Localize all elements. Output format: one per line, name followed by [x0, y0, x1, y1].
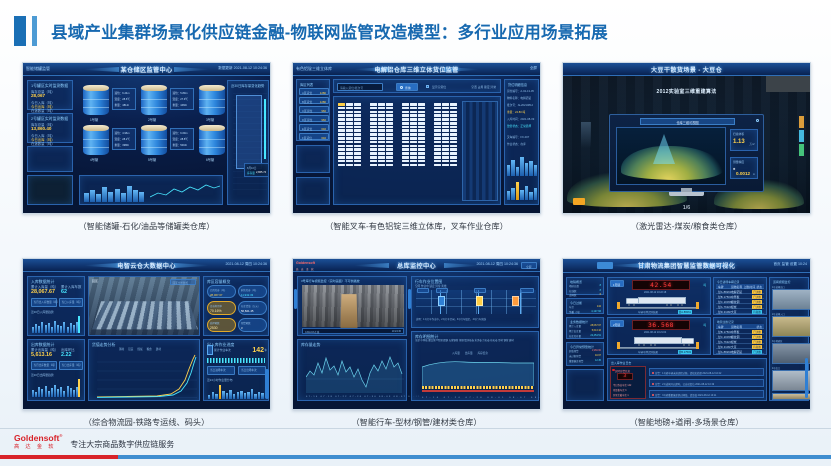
progress-sub1[interactable]: 当日出场车次: [238, 366, 266, 375]
tank-unit-1[interactable]: [83, 85, 109, 115]
tank-card-zone1[interactable]: 1号罐区实时监测数据 库存总量（吨） 28,067 今日入库（吨） 今日出库（吨…: [27, 80, 73, 110]
wb-table-2[interactable]: 车牌 货物名称 状态 甘B·17503 中厚板 已过衡 甘C·20458: [716, 324, 764, 354]
progress-sub0[interactable]: 当日进场车次: [207, 366, 235, 375]
tank-band: [199, 147, 225, 148]
inbound-kpi0-value: 28,067.67: [31, 289, 55, 295]
tank-unit-6-label: 6号罐: [206, 157, 214, 162]
capacity-block-5[interactable]: 预警笔数 3: [238, 318, 267, 332]
detail-row-7: 作业状态：在库: [507, 142, 526, 146]
tank-band: [141, 147, 167, 148]
wb-st-2-label: 在库库存量: [569, 334, 581, 338]
camera-controls[interactable]: CAM-03 在线 10:24:36: [302, 328, 404, 334]
bigdata-card-capacity[interactable]: 库区容量概览 已用库容（吨） 28,067.67 剩余库容（吨） 11,932.…: [203, 276, 269, 336]
inbound-highlight-bar: [78, 316, 80, 333]
wb-stats-title: 业务数据统计: [570, 320, 588, 324]
zone-item-4[interactable]: E区货位 640: [299, 124, 329, 131]
tank-lid: [199, 85, 225, 91]
screenshot-grid: 智能储罐监管 某仓储区监管中心 数据更新 2021-08-12 10:24:36…: [22, 62, 812, 417]
lidar-monitor[interactable]: 仓库三维可视图 扫描体积 1.13 万m³: [609, 114, 764, 192]
table-row[interactable]: 甘A·88261 电解铝锭 已过衡: [716, 349, 764, 354]
wb-st-0-value: 28,067.67: [590, 324, 601, 327]
tank-header: 智能储罐监管 某仓储区监管中心 数据更新 2021-08-12 10:24:36: [23, 63, 270, 76]
slide-title-row: 县域产业集群场景化供应链金融-物联网监管改造模型：多行业应用场景拓展: [14, 16, 608, 46]
tank-unit-2[interactable]: [141, 85, 167, 115]
crane-header: Goldensoft 高 达 金 软 总库监控中心 2021-08-12 周四 …: [293, 259, 540, 272]
status-strip-green: [799, 144, 804, 156]
wb-log-row-0[interactable]: 告警：1号磅车辆未按流程过衡，请核实处理 2021-08-12 10:22: [649, 368, 764, 376]
wb-ov-2-label: 道闸数: [569, 293, 577, 297]
lidar-window-titlebar: 仓库三维可视图: [640, 118, 735, 125]
zone-item-5[interactable]: F区货位 640: [299, 133, 329, 140]
screen-corner-artifact: [766, 76, 810, 92]
wb-card-stats[interactable]: 业务数据统计 累计入库量 28,067.67 累计出库量 5,613.16 在库…: [566, 317, 604, 339]
scale-2-footer: 车辆号牌识别结果: [638, 350, 658, 354]
zone-item-3[interactable]: D区货位 960: [299, 115, 329, 122]
lane-tag-2: [436, 288, 448, 293]
footer-brand-en: Goldensoft®: [14, 434, 62, 443]
tank-body: [141, 89, 167, 115]
camera-feed[interactable]: [302, 285, 404, 327]
tank-band: [83, 107, 109, 108]
wb-al-2-value: 12.45: [595, 359, 601, 362]
scale-1-unit: 吨: [703, 283, 706, 287]
td-goods: 大豆: [731, 310, 737, 314]
zone-item-5-name: F区货位: [302, 136, 312, 140]
search-button-label: 查询: [405, 86, 411, 90]
forklift-rack-canvas[interactable]: [333, 96, 501, 205]
panel-cell-lidar: 大豆干散货场景 - 大豆仓 2012实验室三维重建算法: [562, 62, 811, 214]
footer-brand-block: Goldensoft® 高 达 金 软: [14, 434, 62, 451]
wb-table-1[interactable]: 车牌 货物名称 过衡时间 状态 甘A·88261 电解铝锭 已过衡: [716, 284, 764, 314]
tank-unit-4-label: 4号罐: [90, 157, 98, 162]
inbound-sub1[interactable]: 当日入库量（吨）: [59, 298, 83, 307]
search-input[interactable]: 请输入货位/批次号: [337, 83, 383, 91]
wb-scale-card-2[interactable]: 2号磅 36.568 吨 2021-08-12 10:21:04: [607, 317, 711, 355]
area-legend: 入库量 出库量 库存结余: [452, 351, 488, 355]
side-tab-handle[interactable]: [265, 369, 269, 399]
page-title: 县域产业集群场景化供应链金融-物联网监管改造模型：多行业应用场景拓展: [51, 19, 608, 43]
progress-segments: [207, 358, 265, 363]
map-tag[interactable]: 园区全景监控: [170, 279, 196, 285]
wb-log-count-led: 3: [617, 373, 633, 380]
lane-tag-4: [520, 288, 534, 293]
footer-accent-red: [0, 455, 118, 459]
caption-crane: （智能行车-型材/钢管/建材类仓库）: [292, 416, 541, 428]
tank-card-trend[interactable]: 近30日库存量变化趋势 8月10日 库存量 2,865.74: [227, 80, 269, 205]
detail-row-6: 叉车编号：FK-007: [507, 135, 529, 139]
tank-card-zone2-title: 2号罐区实时监测数据: [31, 116, 68, 122]
lidar-scan-beam: [653, 134, 675, 164]
lidar-3d-view[interactable]: [616, 127, 726, 185]
map-tag-label: 园区全景监控: [173, 281, 189, 285]
fullscreen-button-label: 全屏: [526, 265, 532, 269]
caption-lidar: （激光雷达-煤炭/粮食类仓库）: [562, 220, 811, 232]
wb-today-title: 今日过衡: [570, 301, 582, 305]
scale-1-post-right: [696, 302, 699, 309]
zone-item-4-count: 640: [321, 127, 326, 131]
wb-log-row-0-text: 告警：1号磅车辆未按流程过衡，请核实处理 2021-08-12 10:22: [655, 371, 721, 375]
tank-unit-3-label: 3号罐: [206, 117, 214, 122]
forklift-legend: 空置 占用 锁定 异常: [471, 85, 496, 89]
inbound-bars: [32, 316, 78, 333]
wall-light-left: [581, 122, 591, 148]
footer-brand-mark: ®: [59, 433, 62, 438]
scale-2-reading: 36.568: [648, 322, 674, 329]
inbound-sub0[interactable]: 当月出入库数量（吨）: [31, 298, 57, 307]
outbound-chart-title: 近30日出库量趋势: [31, 373, 54, 377]
crane-unit-1[interactable]: [438, 296, 445, 306]
camera-aisle: [340, 294, 357, 328]
forklift-dashboard: 有色铝锭三维立体库 电解铝仓库三维立体货位监管 全屏 库区列表 A区货位 128…: [293, 63, 540, 213]
tank-unit-5-label: 5号罐: [148, 157, 156, 162]
wb-al-1-value: 40.67: [595, 354, 601, 357]
wb-log-item-0: 今日作业车次 142: [613, 383, 631, 387]
rack-block-empty[interactable]: [462, 101, 498, 201]
lidar-metric-1-label: 测量精度: [733, 160, 744, 164]
capacity-block-4[interactable]: 质押笔数 2530: [207, 318, 236, 332]
alert-dot-icon: [652, 394, 654, 396]
lidar-header: 大豆干散货场景 - 大豆仓: [563, 63, 810, 76]
zone-item-5-count: 640: [321, 136, 326, 140]
tank-info-2: 液位：5.80m 温度：27.9℃ 重量：4460t: [170, 88, 194, 110]
screenshot-bigdata-dashboard[interactable]: 电智云仓大数据中心 2021-08-12 周四 10:24:36 入库数据统计 …: [22, 258, 271, 410]
tank-info-1: 液位：6.24m 温度：28.6℃ 重量：4812t: [112, 88, 136, 110]
screenshot-lidar-dashboard[interactable]: 大豆干散货场景 - 大豆仓 2012实验室三维重建算法: [562, 62, 811, 214]
tank-info-4-line2: 重量：3980t: [115, 143, 129, 147]
forklift-toolbar: 请输入货位/批次号 查询 显示空货位 空置 占用 锁定 异常: [333, 79, 501, 93]
tank-z1-r3-label: 在途数量（吨）: [31, 108, 55, 113]
title-accent-bar-secondary: [32, 16, 37, 46]
tank-bottom-bars: [84, 182, 144, 202]
tank-info-1-line1: 温度：28.6℃: [115, 97, 130, 101]
trend-title: 货值走势分析: [92, 342, 115, 348]
caption-bigdata: （综合物流园-铁路专运线、码头）: [22, 416, 271, 428]
scale-2-led: 36.568: [632, 320, 690, 330]
tank-card-zone3[interactable]: [27, 146, 73, 172]
tank-unit-3[interactable]: [199, 85, 225, 115]
crane-header-right: 2021-08-12 周四 10:24:36: [476, 262, 518, 267]
screenshot-tank-dashboard[interactable]: 智能储罐监管 某仓储区监管中心 数据更新 2021-08-12 10:24:36…: [22, 62, 271, 214]
panel-cell-crane: Goldensoft 高 达 金 软 总库监控中心 2021-08-12 周四 …: [292, 258, 541, 410]
wb-td-0-label: 车次: [569, 305, 574, 309]
table-row[interactable]: 甘D·31097 大豆 待复衡: [716, 309, 764, 314]
wb-scale-card-1[interactable]: 1号磅 42.54 吨 2021-08-12 10:22:18: [607, 277, 711, 315]
trend-line-chart: [97, 353, 197, 398]
camera-time: 10:24:36: [392, 330, 401, 333]
wb-al-1-label: 未过衡预警: [569, 354, 581, 358]
lidar-metric-1: 测量精度 ± 0.0012 m: [730, 157, 758, 179]
wb-ov-0-label: 地磅总数: [569, 284, 579, 288]
side-tab-handle-left[interactable]: [294, 289, 297, 309]
screenshot-crane-dashboard[interactable]: Goldensoft 高 达 金 软 总库监控中心 2021-08-12 周四 …: [292, 258, 541, 410]
tank-info-2-line1: 温度：27.9℃: [173, 97, 188, 101]
forklift-card-zones-extra[interactable]: [296, 145, 330, 173]
forklift-card-detail[interactable]: 货位明细信息 货位编号：A-02-13-05 物料名称：电解铝锭 批次号：AL2…: [504, 79, 539, 205]
forklift-detail-bars: [507, 154, 537, 176]
title-accent-bar-primary: [14, 16, 26, 46]
lidar-scene: 2012实验室三维重建算法 仓库三维可视图 扫描体积: [563, 76, 810, 213]
tank-band: [199, 107, 225, 108]
tank-z2-r0-value: 13,860.40: [31, 126, 51, 131]
tank-body: [83, 129, 109, 155]
scale-2-post-right: [696, 342, 699, 349]
crane-card-camera[interactable]: 3号库行车视频监控（实时画面）不可倒播放 CAM-03 在线 10:24:36: [297, 276, 407, 336]
outbound-sub1[interactable]: 当日出库量（吨）: [59, 361, 83, 370]
panel-cell-forklift: 有色铝锭三维立体库 电解铝仓库三维立体货位监管 全屏 库区列表 A区货位 128…: [292, 62, 541, 214]
forklift-card-zones-extra2[interactable]: [296, 177, 330, 205]
tank-z2-r3-label: 在途数量（吨）: [31, 141, 55, 146]
detail-row-2: 批次号：AL20210812: [507, 103, 533, 107]
wb-table1-title: 今日进场车辆记录: [717, 280, 739, 284]
warehouse-roofs: [92, 301, 198, 329]
zone-item-3-name: D区货位: [302, 118, 312, 122]
wb-card-overview[interactable]: 地磅概览 地磅总数 8 在线数 8 道闸数 6: [566, 277, 604, 295]
wb-camera-card[interactable]: 道闸视频监控 1号道闸出口 2号道闸入口 3号地磅区 4号出口: [769, 277, 809, 401]
zone-item-2-count: 960: [321, 109, 326, 113]
crane-line-title: 库存量走势: [301, 342, 320, 348]
outbound-kpi0-value: 5,613.16: [31, 352, 52, 358]
tank-bottom-line: [150, 181, 220, 203]
truck-icon: [207, 345, 213, 355]
bigdata-header: 电智云仓大数据中心 2021-08-12 周四 10:24:36: [23, 259, 270, 272]
detail-row-4: 入库时间：2021-08-09: [507, 117, 534, 121]
bigdata-card-outbound[interactable]: 出库数据统计 累计出库量（吨） 5,613.16 出库环比 2.22 当月出库数…: [27, 339, 85, 401]
outbound-bars: [32, 379, 78, 397]
rack-block-a[interactable]: [338, 103, 361, 166]
weighbridge-dashboard: 甘肃物流集团智慧监管数据可视化 首页 监管 设置 10:24 地磅概览 地磅总数…: [563, 259, 810, 409]
lidar-window-title: 仓库三维可视图: [641, 120, 734, 125]
wb-card-today[interactable]: 今日过衡 车次 142 净重（吨） 4,127.66: [566, 298, 604, 314]
screenshot-weighbridge-dashboard[interactable]: 甘肃物流集团智慧监管数据可视化 首页 监管 设置 10:24 地磅概览 地磅总数…: [562, 258, 811, 410]
wb-table-card-1[interactable]: 今日进场车辆记录 车牌 货物名称 过衡时间 状态 甘A·88261 电解铝锭: [713, 277, 767, 315]
caption-forklift: （智能叉车-有色铝锭三维立体库，叉车作业仓库）: [292, 220, 541, 232]
wb-log-row-1[interactable]: 告警：2号道闸开启超时，已自动复位 2021-08-12 10:19: [649, 379, 764, 387]
lidar-pager[interactable]: 1/6: [563, 205, 810, 211]
wb-log-title: 出入库作业日志: [611, 361, 631, 365]
trend-legend: 钢材 铝锭 煤炭 粮食 建材: [119, 347, 161, 351]
progress-bars: [208, 384, 264, 399]
wb-log-row-2-text: 告警：3号磅重量偏差超过阈值，请复核 2021-08-12 10:11: [655, 393, 716, 397]
td-status: 已过衡: [752, 350, 762, 354]
lidar-metric-1-prefix: ±: [733, 166, 735, 171]
tooltip-label: 8月10日: [247, 166, 257, 170]
tank-info-4: 液位：4.96m 温度：28.2℃ 重量：3980t: [112, 128, 136, 150]
wb-scrollbar[interactable]: [805, 358, 808, 398]
area-legend-0: 入库量: [452, 351, 460, 355]
area-legend-1: 出库量: [465, 351, 473, 355]
area-filters[interactable]: 全部 中厚板 螺纹钢 H型钢 圆钢 无缝钢管 角钢 镀锌板卷 彩涂卷 冷轧卷 热…: [415, 339, 537, 342]
outbound-sub0[interactable]: 当月出库数量（吨）: [31, 361, 57, 370]
crane-unit-2[interactable]: [476, 296, 483, 306]
footer-accent-line: [0, 455, 831, 459]
scale-1-reading: 42.54: [650, 282, 672, 289]
lane-grid[interactable]: [416, 290, 536, 314]
capacity-0-label: 已用库容（吨）: [210, 288, 227, 292]
weighbridge-header-right[interactable]: 首页 监管 设置 10:24: [773, 262, 807, 267]
wb-td-0-value: 142: [597, 305, 601, 308]
footer-brand-en-text: Goldensoft: [14, 433, 59, 443]
capacity-title: 库区容量概览: [207, 279, 230, 285]
capacity-block-2[interactable]: 库容利用率 70.16%: [207, 301, 236, 315]
forklift-header-right[interactable]: 全屏: [530, 66, 537, 71]
wb-cam-thumb-1[interactable]: [772, 316, 811, 337]
td-goods: 电解铝锭: [731, 350, 742, 354]
forklift-card-zones[interactable]: 库区列表 A区货位 1280 B区货位 1280 C区货位 960: [296, 79, 330, 141]
camera-card-title: 3号库行车视频监控（实时画面）不可倒播放: [301, 279, 360, 283]
area-xaxis: 07-14 07-20 07-26 08-01 08-07 08-12: [422, 397, 541, 399]
wb-ov-1-value: 8: [600, 289, 601, 292]
scale-1-tab[interactable]: 1号磅: [610, 280, 624, 287]
scale-1-footer: 车辆号牌识别结果: [638, 310, 658, 314]
tank-lid: [83, 85, 109, 91]
zone-item-2-name: C区货位: [302, 109, 312, 113]
tank-info-5: 液位：6.60m 温度：28.8℃ 重量：5004t: [170, 128, 194, 150]
capacity-2-label: 库容利用率: [210, 304, 222, 308]
scale-1-post-left: [617, 302, 620, 309]
crane-unit-3[interactable]: [512, 296, 519, 306]
bigdata-card-inbound[interactable]: 入库数据统计 累计入库量（吨） 28,067.67 累计入库车数 62 当月出入…: [27, 276, 85, 336]
wb-cam-thumb-0[interactable]: [772, 289, 811, 310]
capacity-block-3[interactable]: 在库货值（万元） 56,821.45: [238, 301, 267, 315]
tank-unit-5[interactable]: [141, 125, 167, 155]
tank-band: [199, 139, 225, 140]
scale-2-name: 2号磅: [613, 323, 620, 327]
status-strip-orange: [799, 116, 804, 128]
wb-log-item-1: 待复衡车次 3: [613, 388, 626, 392]
detail-row-3: 重量：24.80 吨: [507, 110, 525, 114]
tooltip-value: 2,865.74: [256, 171, 266, 174]
zone-item-1[interactable]: B区货位 1280: [299, 97, 329, 104]
outbound-highlight-bar: [78, 379, 80, 397]
bigdata-card-map[interactable]: 园区 园区全景监控: [88, 276, 200, 336]
tank-info-4-line1: 温度：28.2℃: [115, 137, 130, 141]
wb-ov-0-value: 8: [600, 284, 601, 287]
progress-sub0-label: 当日进场车次: [210, 368, 226, 372]
legend-4: 建材: [156, 347, 161, 351]
tank-trend-title: 近30日库存量变化趋势: [231, 83, 264, 88]
zone-item-0-name: A区货位: [302, 91, 312, 95]
td-plate: 甘A·88261: [718, 350, 731, 354]
tank-video-thumb[interactable]: [27, 175, 73, 205]
capacity-block-1[interactable]: 剩余库容（吨） 11,932.33: [238, 285, 267, 298]
tank-z1-r0-value: 28,067: [31, 93, 45, 98]
inbound-sub1-label: 当日入库量（吨）: [62, 300, 83, 304]
alert-icon: [612, 369, 615, 372]
map-title: 园区: [92, 279, 98, 283]
search-button[interactable]: 查询: [396, 83, 418, 91]
wb-log-count: 3: [623, 374, 626, 379]
bigdata-card-progress[interactable]: 出入库作业进度 累计作业车次 142 车 当日进场车次 当日出场车次 近24小时…: [203, 339, 269, 401]
lane-tag-3: [474, 288, 486, 293]
wb-al-0-label: 超载预警: [569, 349, 579, 353]
crane-line-xaxis: 07-14 07-18 07-22 07-26 07-30 08-03 08-0…: [306, 396, 421, 398]
tank-band: [199, 99, 225, 100]
rack-block-c[interactable]: [402, 103, 425, 166]
lidar-metric-0: 扫描体积 1.13 万m³: [730, 129, 758, 151]
rack-block-d[interactable]: [434, 103, 457, 166]
zone-item-3-count: 960: [321, 118, 326, 122]
bigdata-header-right: 2021-08-12 周四 10:24:36: [225, 262, 267, 267]
capacity-4-label: 质押笔数: [210, 321, 220, 325]
capacity-4-value: 2530: [210, 326, 218, 330]
tank-card-zone2[interactable]: 2号罐区实时监测数据 库存总量（吨） 13,860.40 今日入库（吨） 今日出…: [27, 113, 73, 143]
tank-lid: [83, 125, 109, 131]
forklift-header-title: 电解铝仓库三维立体货位监管: [293, 65, 540, 74]
tank-trend-area: [236, 95, 262, 169]
tank-info-2-line0: 液位：5.80m: [173, 91, 188, 95]
capacity-2-value: 70.16%: [210, 309, 222, 313]
lane-tag-1: [417, 288, 429, 293]
screenshot-forklift-dashboard[interactable]: 有色铝锭三维立体库 电解铝仓库三维立体货位监管 全屏 库区列表 A区货位 128…: [292, 62, 541, 214]
zone-item-1-name: B区货位: [302, 100, 312, 104]
wb-card-alerts[interactable]: 今日异常预警统计 超载预警 1,966.60 未过衡预警 40.67 重量偏差预…: [566, 342, 604, 366]
inbound-sub0-label: 当月出入库数量（吨）: [34, 300, 60, 304]
zone-item-4-name: E区货位: [302, 127, 312, 131]
bigdata-dashboard: 电智云仓大数据中心 2021-08-12 周四 10:24:36 入库数据统计 …: [23, 259, 270, 409]
footer-accent-blue: [118, 455, 831, 459]
tank-unit-6[interactable]: [199, 125, 225, 155]
td-status: 待复衡: [752, 310, 762, 314]
wb-log-row-2[interactable]: 告警：3号磅重量偏差超过阈值，请复核 2021-08-12 10:11: [649, 390, 764, 398]
capacity-5-label: 预警笔数: [241, 321, 251, 325]
fullscreen-button[interactable]: 全屏: [521, 262, 537, 269]
scale-2-tab[interactable]: 2号磅: [610, 320, 624, 327]
crane-card-area[interactable]: 库存明细统计 全部 中厚板 螺纹钢 H型钢 圆钢 无缝钢管 角钢 镀锌板卷 彩涂…: [411, 331, 539, 401]
capacity-block-0[interactable]: 已用库容（吨） 28,067.67: [207, 285, 236, 298]
wb-ov-2-value: 6: [600, 293, 601, 296]
scale-1-name: 1号磅: [613, 283, 620, 287]
rack-block-b[interactable]: [370, 103, 393, 166]
show-empty-checkbox[interactable]: [426, 85, 429, 88]
crane-card-line[interactable]: 库存量走势 07-14 07-18 07-22 07-26 07-30 08-0…: [297, 339, 407, 401]
zone-item-2[interactable]: C区货位 960: [299, 106, 329, 113]
legend-2: 煤炭: [137, 347, 142, 351]
wb-log-row-1-text: 告警：2号道闸开启超时，已自动复位 2021-08-12 10:19: [655, 382, 714, 386]
scale-2-unit: 吨: [703, 323, 706, 327]
zone-item-0[interactable]: A区货位 1280: [299, 88, 329, 95]
search-icon: [400, 86, 403, 89]
tank-bottom-chart[interactable]: [79, 175, 223, 205]
wb-al-0-value: 1,966.60: [592, 349, 601, 352]
tank-card-zone1-title: 1号罐区实时监测数据: [31, 83, 68, 89]
side-tab-handle-mid[interactable]: [408, 289, 411, 309]
tank-band: [141, 99, 167, 100]
footer-slogan: 专注大宗商品数字供应链服务: [70, 439, 174, 451]
camera-status: CAM-03 在线: [305, 330, 319, 334]
crane-line-chart: [306, 349, 404, 393]
wb-log-card[interactable]: 出入库作业日志 实时告警信息 3 今日作业车次 142 待复衡车次 3 异常拦截…: [607, 358, 767, 401]
footer-divider: [0, 428, 831, 429]
progress-unit: 车: [264, 348, 267, 352]
wb-st-1-label: 累计出库量: [569, 329, 581, 333]
tank-info-5-line2: 重量：5004t: [173, 143, 187, 147]
wb-card-misc[interactable]: [566, 369, 604, 401]
area-legend-2: 库存结余: [478, 351, 488, 355]
wb-st-1-value: 5,613.16: [592, 329, 601, 332]
wb-table-card-2[interactable]: 地磅过衡记录 车牌 货物名称 状态 甘B·17503 中厚板 已过衡: [713, 317, 767, 355]
capacity-1-label: 剩余库容（吨）: [241, 288, 258, 292]
area-band-red: [422, 390, 534, 392]
crane-card-lane[interactable]: 行车作业位置图 空闲 作业中 锁定 异常 离线: [411, 276, 539, 328]
tank-info-1-line0: 液位：6.24m: [115, 91, 130, 95]
panel-cell-bigdata: 电智云仓大数据中心 2021-08-12 周四 10:24:36 入库数据统计 …: [22, 258, 271, 410]
bigdata-card-trend[interactable]: 货值走势分析 钢材 铝锭 煤炭 粮食 建材: [88, 339, 200, 401]
wb-st-2-value: 22,454.51: [590, 334, 601, 337]
tank-unit-4[interactable]: [83, 125, 109, 155]
tank-body: [199, 89, 225, 115]
tank-body: [199, 129, 225, 155]
close-icon[interactable]: [756, 119, 759, 122]
